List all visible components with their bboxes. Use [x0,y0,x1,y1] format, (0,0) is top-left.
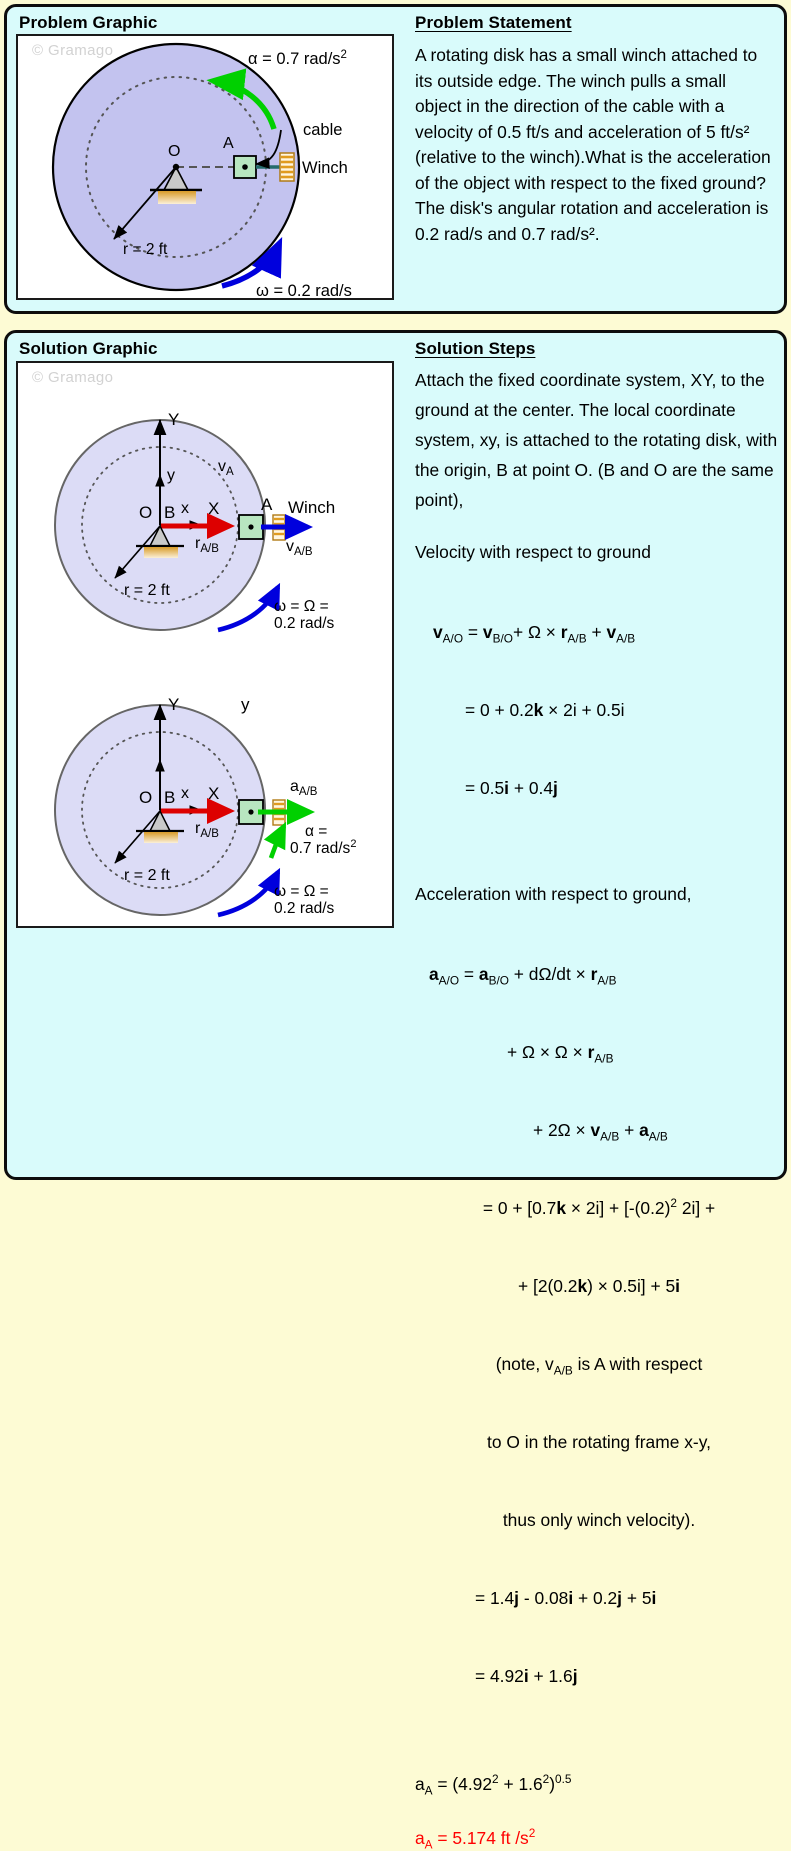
accel-eq-line-6: = 1.4j - 0.08i + 0.2j + 5i [475,1585,783,1611]
block-center-dot [242,164,248,170]
support-hatch [158,191,196,204]
radius-label-v: r = 2 ft [124,582,170,599]
accel-note-line-2: to O in the rotating frame x-y, [415,1429,783,1455]
label-B-a: B [164,788,175,807]
alpha-arc-arrow-a [271,826,284,858]
label-omega-line2-a: 0.2 rad/s [274,900,335,917]
accel-eq-line-1: aA/O = aB/O + dΩ/dt × rA/B [429,961,783,987]
magnitude-equation: aA = (4.922 + 1.62)0.5 [415,1771,783,1797]
velocity-diagram: Y y x X O B rA/B [55,410,335,632]
label-Y-v: Y [168,410,179,429]
label-aAB-a: aA/B [290,778,318,798]
label-alpha-line2-a: 0.7 rad/s2 [290,838,356,857]
problem-graphic-box: © Gramago [16,34,394,300]
label-X-a: X [208,784,219,803]
velocity-eq-line-3: = 0.5i + 0.4j [465,775,783,801]
problem-diagram: r = 2 ft O A [18,36,394,300]
solution-graphic-box: © Gramago [16,361,394,928]
label-y-v: y [167,467,175,484]
problem-statement-title: Problem Statement [415,13,572,33]
label-omega-line2-v: 0.2 rad/s [274,615,335,632]
watermark-solution: © Gramago [32,369,113,386]
final-answer: aA = 5.174 ft /s2 [415,1825,783,1851]
solution-panel: Solution Graphic Solution Steps © Gramag… [4,330,787,1180]
solution-graphic-title: Solution Graphic [19,339,158,359]
solution-steps-title: Solution Steps [415,339,535,359]
label-omega-line1-a: ω = Ω = [274,883,329,900]
label-O-a: O [139,788,152,807]
label-vAB-v: vA/B [286,538,313,558]
velocity-eq-line-1: vA/O = vB/O+ Ω × rA/B + vA/B [433,619,783,645]
label-omega: ω = 0.2 rad/s [256,282,352,300]
accel-eq-line-7: = 4.92i + 1.6j [475,1663,783,1689]
accel-note-line-1: (note, vA/B is A with respect [415,1351,783,1377]
accel-eq-line-3: + 2Ω × vA/B + aA/B [533,1117,783,1143]
problem-panel: Problem Graphic Problem Statement © Gram… [4,4,787,314]
velocity-heading: Velocity with respect to ground [415,537,783,567]
worksheet-page: Problem Graphic Problem Statement © Gram… [0,0,791,1184]
accel-note-line-3: thus only winch velocity). [415,1507,783,1533]
acceleration-diagram: Y y x X O B rA/B [55,695,356,917]
label-Y-a: Y [168,695,179,714]
label-x-v: x [181,500,189,517]
problem-graphic-title: Problem Graphic [19,13,157,33]
label-A-v: A [261,495,273,514]
center-point-o [173,164,179,170]
label-B-v: B [164,503,175,522]
label-y-a: y [241,695,250,714]
label-winch: Winch [302,159,348,177]
block-center-dot-v [248,524,253,529]
label-O-v: O [139,503,152,522]
accel-eq-line-5: + [2(0.2k) × 0.5i] + 5i [415,1273,783,1299]
support-hatch-a [144,832,178,843]
radius-label-a: r = 2 ft [124,867,170,884]
problem-statement-text: A rotating disk has a small winch attach… [415,43,777,247]
accel-eq-line-2: + Ω × Ω × rA/B [507,1039,783,1065]
accel-eq-line-4: = 0 + [0.7k × 2i] + [-(0.2)2 2i] + [415,1195,783,1221]
acceleration-heading: Acceleration with respect to ground, [415,879,783,909]
support-hatch-v [144,547,178,558]
label-X-v: X [208,499,219,518]
label-omega-line1-v: ω = Ω = [274,598,329,615]
label-x-a: x [181,785,189,802]
label-winch-v: Winch [288,498,335,517]
solution-steps-column: Attach the fixed coordinate system, XY, … [415,365,783,1851]
watermark-problem: © Gramago [32,42,113,59]
velocity-equation-block: vA/O = vB/O+ Ω × rA/B + vA/B = 0 + 0.2k … [433,567,783,853]
block-center-dot-a [248,809,253,814]
alpha-text: α = 0.7 rad/s [248,50,341,68]
alpha-exponent: 2 [341,49,347,61]
radius-label: r = 2 ft [123,241,168,258]
label-o: O [168,143,180,160]
solution-diagrams: Y y x X O B rA/B [18,363,394,928]
velocity-eq-line-2: = 0 + 0.2k × 2i + 0.5i [465,697,783,723]
solution-intro-text: Attach the fixed coordinate system, XY, … [415,365,783,515]
label-a: A [223,135,234,152]
label-alpha-line1-a: α = [305,823,327,840]
acceleration-equation-block: aA/O = aB/O + dΩ/dt × rA/B + Ω × Ω × rA/… [415,909,783,1741]
label-alpha: α = 0.7 rad/s2 [248,49,347,68]
label-cable: cable [303,121,342,139]
